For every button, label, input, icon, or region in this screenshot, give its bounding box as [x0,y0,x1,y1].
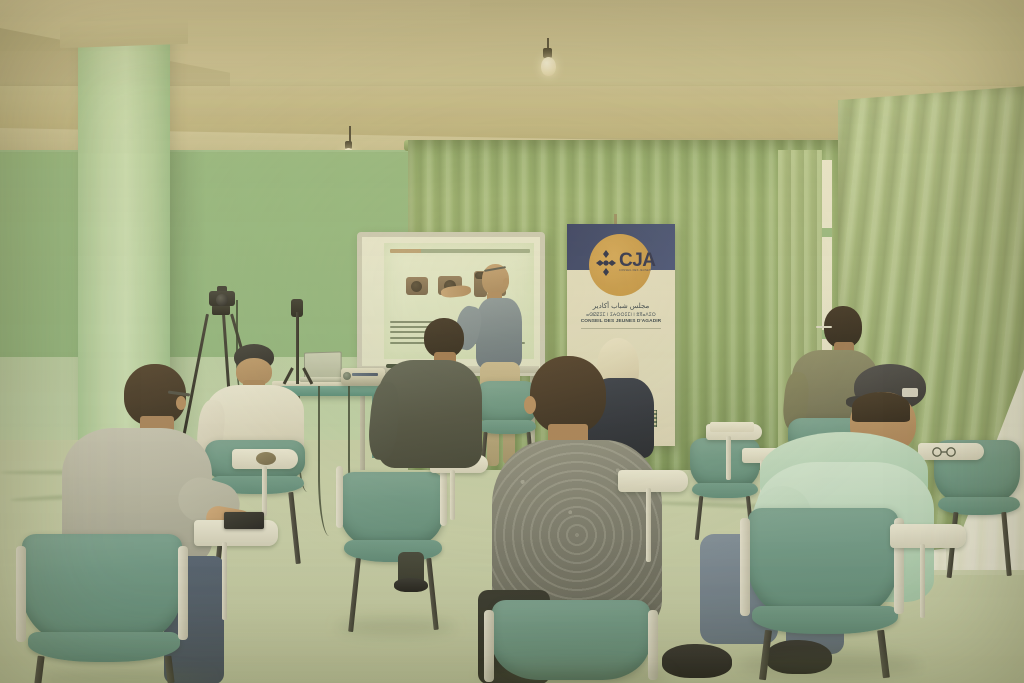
presenter-torso [476,298,522,368]
banner-french-text: CONSEIL DES JEUNES D'AGADIR [571,319,671,324]
eyeglasses-on-desk-icon[interactable] [930,444,960,462]
cja-logo-icon [596,250,616,276]
phone-on-desk[interactable] [224,512,264,529]
attendee-shoe [394,578,428,592]
attendee-hair [852,392,910,422]
shadow [740,652,920,678]
microphone-stand [296,312,299,384]
cap-strap [902,388,918,397]
notebook-on-desk[interactable] [710,422,754,432]
attendee-ear [524,396,536,414]
banner-logo-subtitle: CONSEIL DES JEUNES [619,269,671,272]
camera-lens-icon [216,294,228,306]
banner-arabic-text: مجلس شباب أكادير [571,302,671,310]
banner-tifinagh-text: ⴰⵙⵇⵇⵉⵎ ⵏ ⵉⵄⵔⵔⵉⵎⵏ ⵏ ⵓⴳⴰⴷⵉⵔ [571,312,671,318]
attendee-head [530,356,606,434]
projector-vent [352,373,378,376]
banner-divider [581,328,661,329]
shadow [336,618,456,636]
projector-lens-icon [343,372,351,380]
column-capital [60,18,188,48]
shadow [480,664,670,683]
photograph-scene: CJA CONSEIL DES JEUNES مجلس شباب أكادير … [0,0,1024,683]
attendee-shoe [662,644,732,678]
tripod-head [212,305,230,315]
shadow [40,668,210,683]
slide-image-camera-front [406,277,428,295]
computer-mouse[interactable] [256,452,276,465]
attendee-ear [176,396,186,410]
banner-logo-text: CJA [619,251,656,270]
slide-title-bar [390,249,530,253]
presenter-ear [503,278,509,286]
attendee-glasses-icon [816,326,832,328]
